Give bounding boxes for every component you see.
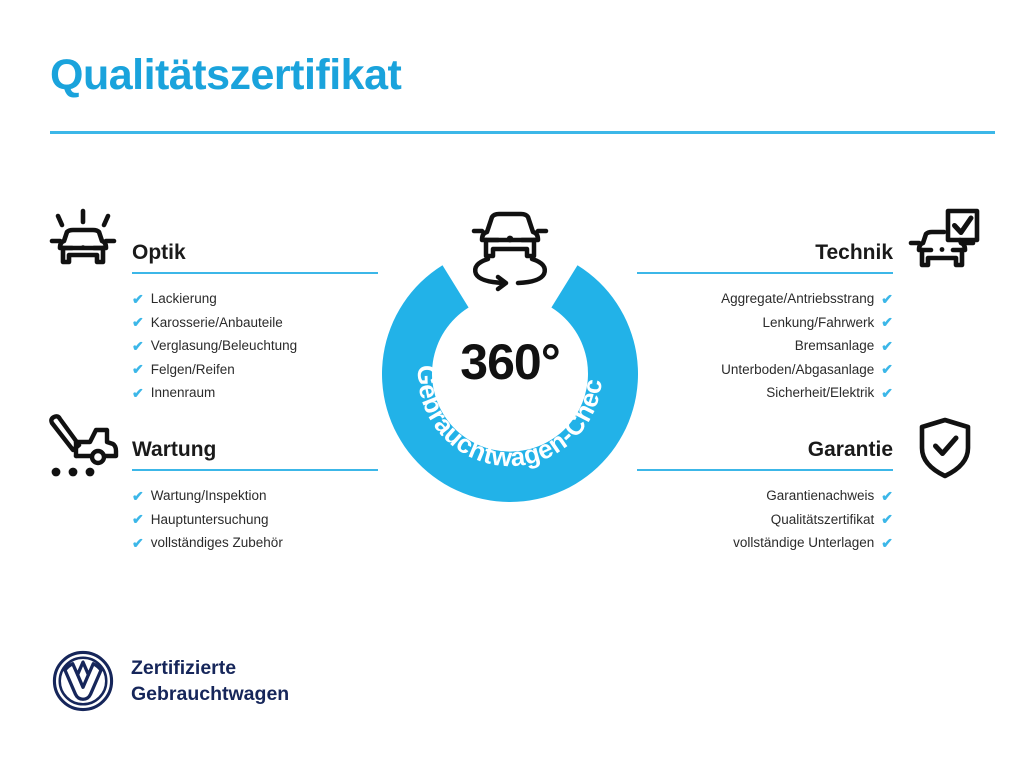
list-item: ✔ Lackierung (132, 287, 378, 311)
section-optik-title: Optik (132, 240, 378, 266)
list-item-label: Verglasung/Beleuchtung (151, 334, 297, 358)
list-item: ✔ Verglasung/Beleuchtung (132, 334, 378, 358)
footer-line-1: Zertifizierte (131, 655, 289, 681)
list-item-label: Qualitätszertifikat (771, 508, 875, 532)
list-item: ✔ Felgen/Reifen (132, 358, 378, 382)
list-item-label: Hauptuntersuchung (151, 508, 269, 532)
list-item-label: Garantienachweis (766, 484, 874, 508)
check-icon: ✔ (132, 512, 144, 526)
section-optik-divider (132, 272, 378, 274)
car-checkbox-icon (908, 208, 980, 279)
section-wartung-divider (132, 469, 378, 471)
list-item: Unterboden/Abgasanlage ✔ (637, 358, 893, 382)
list-item-label: Wartung/Inspektion (151, 484, 267, 508)
section-optik-list: ✔ Lackierung ✔ Karosserie/Anbauteile ✔ V… (132, 287, 378, 405)
list-item: Bremsanlage ✔ (637, 334, 893, 358)
footer-line-2: Gebrauchtwagen (131, 681, 289, 707)
check-icon: ✔ (881, 315, 893, 329)
list-item-label: Unterboden/Abgasanlage (721, 358, 874, 382)
check-icon: ✔ (881, 362, 893, 376)
list-item-label: vollständiges Zubehör (151, 531, 283, 555)
list-item-label: Lenkung/Fahrwerk (762, 311, 874, 335)
check-icon: ✔ (881, 292, 893, 306)
list-item: Qualitätszertifikat ✔ (637, 508, 893, 532)
list-item: ✔ Karosserie/Anbauteile (132, 311, 378, 335)
check-icon: ✔ (132, 489, 144, 503)
check-icon: ✔ (881, 339, 893, 353)
section-garantie-list: Garantienachweis ✔ Qualitätszertifikat ✔… (637, 484, 893, 555)
check-icon: ✔ (132, 362, 144, 376)
check-icon: ✔ (132, 386, 144, 400)
check-icon: ✔ (132, 292, 144, 306)
car-rotate-360-icon (460, 196, 560, 292)
list-item-label: Innenraum (151, 381, 216, 405)
check-icon: ✔ (881, 512, 893, 526)
section-garantie-header: Garantie (637, 437, 893, 471)
list-item: ✔ Innenraum (132, 381, 378, 405)
list-item-label: Bremsanlage (795, 334, 875, 358)
section-garantie-title: Garantie (637, 437, 893, 463)
section-technik-list: Aggregate/Antriebsstrang ✔ Lenkung/Fahrw… (637, 287, 893, 405)
check-icon: ✔ (881, 536, 893, 550)
list-item-label: vollständige Unterlagen (733, 531, 874, 555)
footer-text-block: Zertifizierte Gebrauchtwagen (131, 655, 289, 707)
section-garantie: Garantie Garantienachweis ✔ Qualitätszer… (637, 437, 893, 555)
gebrauchtwagen-check-badge: Gebrauchtwagen-Check 360° (382, 196, 638, 506)
section-garantie-divider (637, 469, 893, 471)
section-wartung: Wartung ✔ Wartung/Inspektion ✔ Hauptunte… (132, 437, 378, 555)
check-icon: ✔ (132, 315, 144, 329)
section-technik-title: Technik (637, 240, 893, 266)
list-item: ✔ Hauptuntersuchung (132, 508, 378, 532)
list-item-label: Aggregate/Antriebsstrang (721, 287, 874, 311)
badge-value: 360° (382, 333, 638, 391)
car-shine-icon (46, 204, 120, 285)
list-item: Sicherheit/Elektrik ✔ (637, 381, 893, 405)
list-item: vollständige Unterlagen ✔ (637, 531, 893, 555)
list-item-label: Lackierung (151, 287, 217, 311)
section-technik: Technik Aggregate/Antriebsstrang ✔ Lenku… (637, 240, 893, 405)
section-optik: Optik ✔ Lackierung ✔ Karosserie/Anbautei… (132, 240, 378, 405)
check-icon: ✔ (881, 489, 893, 503)
list-item-label: Felgen/Reifen (151, 358, 235, 382)
section-optik-header: Optik (132, 240, 378, 274)
list-item: Garantienachweis ✔ (637, 484, 893, 508)
list-item-label: Sicherheit/Elektrik (766, 381, 874, 405)
section-technik-divider (637, 272, 893, 274)
section-wartung-header: Wartung (132, 437, 378, 471)
header-divider (50, 131, 995, 134)
check-icon: ✔ (132, 536, 144, 550)
check-icon: ✔ (132, 339, 144, 353)
list-item: ✔ vollständiges Zubehör (132, 531, 378, 555)
shield-check-icon (916, 416, 974, 485)
section-wartung-title: Wartung (132, 437, 378, 463)
list-item: Aggregate/Antriebsstrang ✔ (637, 287, 893, 311)
list-item: ✔ Wartung/Inspektion (132, 484, 378, 508)
section-technik-header: Technik (637, 240, 893, 274)
list-item: Lenkung/Fahrwerk ✔ (637, 311, 893, 335)
footer-logo-text: Zertifizierte Gebrauchtwagen (131, 655, 289, 707)
wrench-car-service-icon (46, 414, 120, 485)
section-wartung-list: ✔ Wartung/Inspektion ✔ Hauptuntersuchung… (132, 484, 378, 555)
footer-logo-block: Zertifizierte Gebrauchtwagen (52, 650, 289, 712)
list-item-label: Karosserie/Anbauteile (151, 311, 283, 335)
check-icon: ✔ (881, 386, 893, 400)
page-title: Qualitätszertifikat (50, 52, 401, 99)
volkswagen-logo (52, 650, 114, 712)
